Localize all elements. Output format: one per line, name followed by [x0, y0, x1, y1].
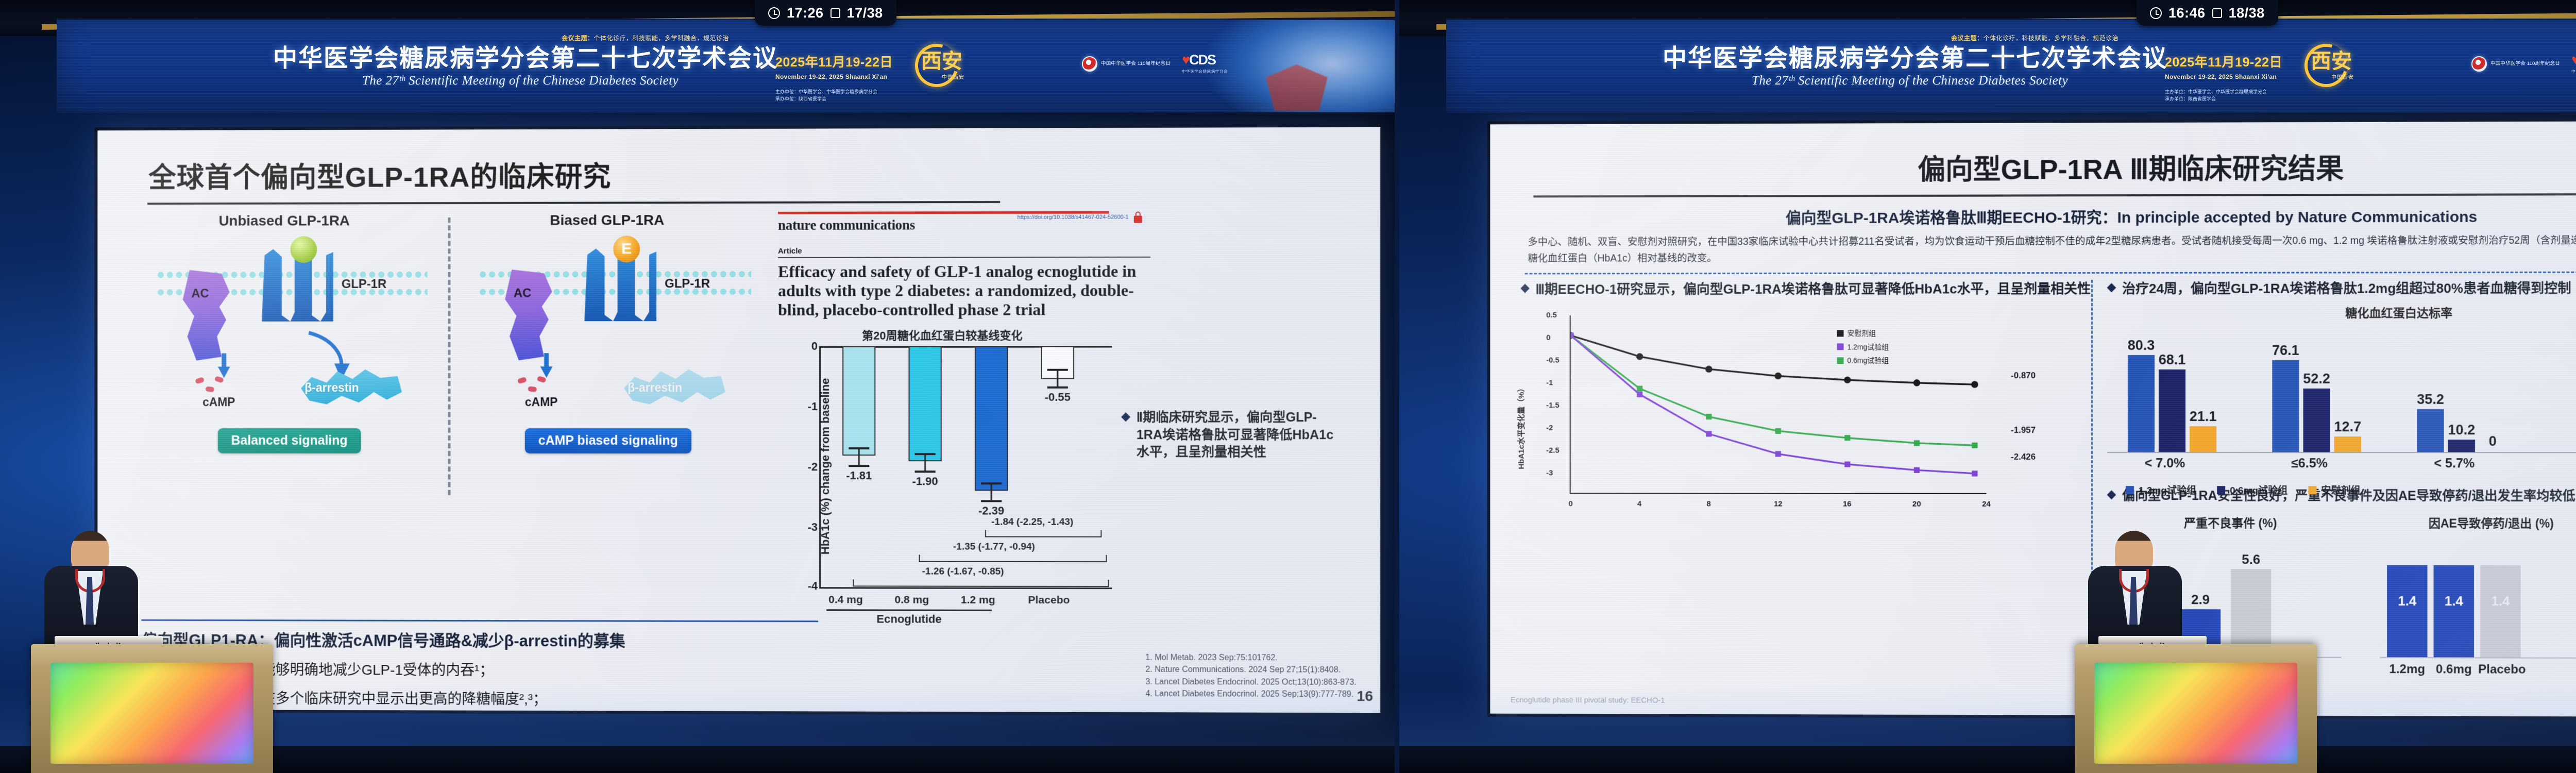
- bar-value-1-2mg: -2.39: [978, 505, 1004, 518]
- cds-logo-mark: ♥CDS: [2571, 53, 2576, 67]
- pagoda-graphic: [1266, 64, 1328, 111]
- gb-legend-label-1-2mg: 1.2mg试验组: [2139, 483, 2196, 497]
- chart-xaxis: 0.4 mg 0.8 mg 1.2 mg Placebo Ecnoglutide: [819, 592, 1113, 634]
- leadin-text: 偏向型GLP1-RA：偏向性激活cAMP信号通路&减少β-arrestin的募集: [141, 627, 1359, 653]
- beta-arrestin-icon-biased: β-arrestin: [617, 366, 725, 414]
- signal-pill-camp-biased: cAMP biased signaling: [525, 428, 691, 453]
- banner-host-line2: 承办单位：陕西省医学会: [2165, 96, 2319, 103]
- ac-label-biased: AC: [514, 286, 532, 300]
- gbar-label-g2-1-2mg: 76.1: [2272, 343, 2299, 359]
- city-emblem: 西安 中国西安: [906, 40, 967, 91]
- gb-legend-1-2mg: 1.2mg试验组: [2126, 483, 2196, 497]
- ytick-1: -1: [794, 400, 818, 413]
- gbar-g3-1-2mg: 35.2: [2417, 409, 2444, 452]
- biased-panel-title: Biased GLP-1RA: [463, 212, 751, 229]
- gbar-g2-0-6mg: 52.2: [2303, 389, 2330, 452]
- endlabel-0-6mg: -1.957: [2011, 425, 2036, 435]
- chart-baseline: [821, 587, 1112, 590]
- chart-side-bullet: ◆ Ⅱ期临床研究显示，偏向型GLP-1RA埃诺格鲁肽可显著降低HbA1c水平，且…: [1122, 326, 1340, 616]
- gbar-label-g2-placebo: 12.7: [2334, 419, 2361, 435]
- lc-ytick-2: -0.5: [1546, 356, 1560, 365]
- bullet-right-1-text: 治疗24周，偏向型GLP-1RA埃诺格鲁肽1.2mg组超过80%患者血糖得到控制…: [2122, 279, 2576, 298]
- camp-molecule-icon: [188, 376, 249, 395]
- side-bullet-row: ◆ Ⅱ期临床研究显示，偏向型GLP-1RA埃诺格鲁肽可显著降低HbA1c水平，且…: [1122, 409, 1340, 461]
- right-camera-pane: 会议主题：个体化诊疗，科技赋能，多学科融合，规范诊治 中华医学会糖尿病学分会第二…: [1395, 0, 2576, 773]
- comparison-label-3: -1.26 (-1.67, -0.85): [922, 566, 1004, 578]
- gb-xtick-1: < 7.0%: [2145, 456, 2185, 471]
- line-chart-ylabel: HbA1c水平变化量（%）: [1516, 384, 1527, 469]
- bullet-left-text: Ⅲ期EECHO-1研究显示，偏向型GLP-1RA埃诺格鲁肽可显著降低HbA1c水…: [1535, 280, 2091, 299]
- cmda-seal-icon: [2471, 56, 2487, 72]
- banner-theme: 会议主题：个体化诊疗，科技赋能，多学科融合，规范诊治: [1951, 33, 2119, 42]
- endlabel-1-2mg: -2.426: [2011, 452, 2036, 462]
- slide-page-number-left: 16: [1357, 688, 1374, 704]
- slide-body-left: Unbiased GLP-1RA GLP-1R AC cAMP: [118, 211, 1360, 617]
- banner-title-en: The 27ᵗʰ Scientific Meeting of the Chine…: [1663, 74, 2157, 88]
- gb-legend-placebo: 安慰剂组: [2308, 483, 2360, 497]
- gbar-g1-0-6mg: 68.1: [2159, 369, 2185, 452]
- lc-xtick-16: 16: [1843, 500, 1852, 509]
- cds-logo: ♥CDS 中华医学会糖尿病学分会: [2571, 53, 2576, 74]
- lc-ytick-4: -1.5: [1546, 401, 1560, 410]
- legend-label-0-6mg: 0.6mg试验组: [1848, 354, 1889, 367]
- reference-3: 3. Lancet Diabetes Endocrinol. 2025 Oct;…: [1145, 676, 1356, 688]
- lc-ytick-1: 0: [1546, 333, 1550, 342]
- comparison-label-2: -1.35 (-1.77, -0.94): [953, 542, 1035, 553]
- legend-item-1-2mg: 1.2mg试验组: [1837, 340, 1889, 354]
- cds-logo-sub: 中华医学会糖尿病学分会: [1182, 69, 1228, 74]
- gbar-label-g3-placebo: 0: [2489, 433, 2497, 449]
- side-bullet-text: Ⅱ期临床研究显示，偏向型GLP-1RA埃诺格鲁肽可显著降低HbA1c水平，且呈剂…: [1137, 409, 1340, 461]
- gbar-label-g3-1-2mg: 35.2: [2417, 392, 2444, 408]
- speaker-right: [2085, 519, 2188, 653]
- chart-ylabel: HbA1c (%) change from baseline: [819, 378, 832, 555]
- chart-hba1c-target-rate: 糖化血红蛋白达标率 80.3 68.1 21.1 76.1 52.2 12.7: [2107, 303, 2576, 484]
- legend-label-1-2mg: 1.2mg试验组: [1848, 340, 1889, 354]
- chart-hba1c-timecourse: HbA1c水平变化量（%） 0.5 0 -0.5 -1 -1.5 -2 -2.5…: [1521, 305, 2063, 526]
- hud-time-right: 16:46: [2168, 5, 2206, 21]
- errorbar-0-8mg: [915, 453, 936, 473]
- aed-label-0-6mg: 1.4: [2445, 593, 2463, 609]
- bar-value-0-8mg: -1.90: [912, 475, 938, 488]
- bar-0-4mg: -1.81: [842, 346, 875, 456]
- speaker-left: [41, 519, 144, 653]
- gbar-g3-0-6mg: 10.2: [2448, 440, 2475, 452]
- legend-swatch-placebo: [1837, 330, 1844, 337]
- city-emblem: 西安 中国西安: [2295, 40, 2356, 91]
- unbiased-panel-title: Unbiased GLP-1RA: [141, 212, 427, 229]
- paper-doi: https://doi.org/10.1038/s41467-024-52600…: [1018, 214, 1129, 221]
- banner-title-cn: 中华医学会糖尿病学分会第二十七次学术会议: [273, 46, 768, 71]
- gbar-g1-placebo: 21.1: [2190, 426, 2216, 452]
- bar-placebo: -0.55: [1041, 346, 1074, 379]
- legend-label-placebo: 安慰剂组: [1848, 326, 1876, 340]
- cds-logo: ♥CDS 中华医学会糖尿病学分会: [1182, 53, 1228, 74]
- reference-1: 1. Mol Metab. 2023 Sep:75:101762.: [1145, 652, 1356, 664]
- lc-ytick-3: -1: [1546, 378, 1553, 387]
- gb-swatch-0-6mg: [2217, 486, 2225, 494]
- bullet-right-1: ◆ 治疗24周，偏向型GLP-1RA埃诺格鲁肽1.2mg组超过80%患者血糖得到…: [2107, 279, 2576, 298]
- banner-theme-label: 会议主题：: [562, 35, 594, 42]
- reference-2: 2. Nature Communications. 2024 Sep 27;15…: [1145, 664, 1356, 676]
- legend-swatch-0-6mg: [1837, 357, 1844, 364]
- lc-xtick-20: 20: [1912, 500, 1921, 509]
- chart-plot-area: HbA1c (%) change from baseline 0 -1 -2 -…: [819, 346, 1109, 590]
- slide-icon: [2212, 8, 2222, 18]
- endlabel-placebo: -0.870: [2011, 371, 2036, 381]
- comparison-bracket-3: [853, 580, 1109, 587]
- bar-value-0-4mg: -1.81: [846, 469, 872, 482]
- gb-legend-0-6mg: 0.6mg试验组: [2217, 483, 2287, 497]
- slide-title-right: 偏向型GLP-1RA Ⅲ期临床研究结果: [1507, 145, 2576, 189]
- xtick-1-2mg: 1.2 mg: [961, 594, 995, 607]
- slide-footnote: Ecnoglutide phase III pivotal study: EEC…: [1511, 696, 1665, 705]
- diamond-bullet-icon: ◆: [1122, 409, 1130, 461]
- banner-title-block: 中华医学会糖尿病学分会第二十七次学术会议 The 27ᵗʰ Scientific…: [1663, 46, 2157, 88]
- beta-arrestin-label-biased: β-arrestin: [628, 381, 682, 395]
- gb-swatch-placebo: [2308, 486, 2316, 494]
- banner-theme-text: 个体化诊疗，科技赋能，多学科融合，规范诊治: [1984, 35, 2119, 42]
- camp-label-unbiased: cAMP: [188, 395, 249, 409]
- paper-title: Efficacy and safety of GLP-1 analog ecno…: [778, 262, 1156, 320]
- hud-time-left: 17:26: [787, 5, 824, 21]
- banner-logos: 中国中华医学会 110周年纪念日 ♥CDS 中华医学会糖尿病学分会: [2471, 53, 2576, 74]
- hud-slide-counter-right: 18/38: [2229, 5, 2265, 21]
- camp-label-biased: cAMP: [511, 395, 572, 409]
- banner-theme: 会议主题：个体化诊疗，科技赋能，多学科融合，规范诊治: [562, 33, 729, 42]
- errorbar-0-4mg: [849, 447, 869, 467]
- podium-led-panel: [2094, 663, 2297, 764]
- column-left: ◆ Ⅲ期EECHO-1研究显示，偏向型GLP-1RA埃诺格鲁肽可显著降低HbA1…: [1507, 280, 2091, 657]
- chart-ae-discontinuation: 因AE导致停药/退出 (%) 1.4 1.4 1.4 1.2mg 0.6mg P…: [2380, 513, 2576, 659]
- hud-overlay-right: 16:46 18/38: [2137, 0, 2278, 26]
- gbar-g2-placebo: 12.7: [2334, 436, 2361, 452]
- lc-xtick-24: 24: [1982, 500, 1991, 509]
- gbar-label-g1-0-6mg: 68.1: [2159, 352, 2186, 368]
- conference-banner-right: 会议主题：个体化诊疗，科技赋能，多学科融合，规范诊治 中华医学会糖尿病学分会第二…: [1446, 19, 2576, 112]
- aed-bar-1-2mg: 1.4: [2387, 565, 2427, 657]
- gbar-g1-1-2mg: 80.3: [2128, 355, 2155, 452]
- bar-value-placebo: -0.55: [1045, 391, 1071, 404]
- bar-1-2mg: -2.39: [975, 346, 1008, 491]
- banner-title-en: The 27ᵗʰ Scientific Meeting of the Chine…: [273, 74, 768, 88]
- podium-right: 朱大龙: [2075, 603, 2317, 773]
- ytick-0: 0: [794, 340, 818, 353]
- lc-ytick-6: -2.5: [1546, 446, 1560, 455]
- stage-frame-bottom: [1395, 746, 2576, 773]
- chart-and-bullet-row: 第20周糖化血红蛋白较基线变化 HbA1c (%) change from ba…: [772, 326, 1352, 616]
- ytick-2: -2: [794, 460, 818, 474]
- line-chart-plot: 0.5 0 -0.5 -1 -1.5 -2 -2.5 -3: [1570, 315, 1987, 494]
- aed-title: 因AE导致停药/退出 (%): [2380, 513, 2576, 531]
- slide-columns: ◆ Ⅲ期EECHO-1研究显示，偏向型GLP-1RA埃诺格鲁肽可显著降低HbA1…: [1507, 279, 2576, 659]
- lc-xtick-0: 0: [1569, 499, 1573, 508]
- heart-icon: ♥: [2571, 52, 2576, 68]
- cds-logo-sub: 中华医学会糖尿病学分会: [2571, 69, 2576, 74]
- ligand-badge-icon: E: [613, 236, 640, 262]
- gb-title: 糖化血红蛋白达标率: [2107, 303, 2576, 321]
- legend-item-0-6mg: 0.6mg试验组: [1837, 354, 1889, 367]
- projection-screen-left: 全球首个偏向型GLP-1RA的临床研究 Unbiased GLP-1RA GLP…: [97, 127, 1380, 713]
- camp-group-biased: cAMP: [511, 376, 572, 409]
- aed-plot: 1.4 1.4 1.4 1.2mg 0.6mg Placebo: [2380, 539, 2576, 658]
- cmda-logo: 中国中华医学会 110周年纪念日: [2471, 56, 2560, 72]
- receptor-label-biased: GLP-1R: [665, 277, 710, 291]
- gb-xtick-2: ≤6.5%: [2291, 456, 2328, 471]
- gbar-label-g3-0-6mg: 10.2: [2448, 422, 2475, 438]
- conference-banner-left: 会议主题：个体化诊疗，科技赋能，多学科融合，规范诊治 中华医学会糖尿病学分会第二…: [57, 19, 1395, 112]
- aed-xtick-0-6mg: 0.6mg: [2436, 662, 2472, 677]
- xaxis-group-label: Ecnoglutide: [826, 613, 992, 627]
- left-camera-pane: 会议主题：个体化诊疗，科技赋能，多学科融合，规范诊治 中华医学会糖尿病学分会第二…: [0, 0, 1395, 773]
- banner-logos: 中国中华医学会 110周年纪念日 ♥CDS 中华医学会糖尿病学分会: [1082, 53, 1228, 74]
- cmda-logo: 中国中华医学会 110周年纪念日: [1082, 56, 1171, 72]
- aed-xtick-1-2mg: 1.2mg: [2389, 662, 2425, 677]
- reference-list: 1. Mol Metab. 2023 Sep:75:101762. 2. Nat…: [1145, 652, 1356, 700]
- banner-artwork: [1204, 19, 1395, 112]
- podium-left: 朱大龙: [31, 603, 273, 773]
- gb-legend-label-0-6mg: 0.6mg试验组: [2230, 483, 2287, 497]
- gb-legend-label-placebo: 安慰剂组: [2321, 483, 2360, 497]
- clock-icon: [2150, 7, 2162, 19]
- projection-screen-right: 偏向型GLP-1RA Ⅲ期临床研究结果 偏向型GLP-1RA埃诺格鲁肽Ⅲ期EEC…: [1490, 121, 2576, 717]
- gbar-g2-1-2mg: 76.1: [2272, 360, 2299, 452]
- lc-ytick-5: -2: [1546, 424, 1553, 432]
- xaxis-group-rule: [826, 610, 992, 612]
- city-tag: 中国西安: [942, 73, 964, 80]
- signal-pill-balanced: Balanced signaling: [218, 428, 361, 453]
- slide-16: 全球首个偏向型GLP-1RA的临床研究 Unbiased GLP-1RA GLP…: [97, 127, 1380, 713]
- diamond-bullet-icon: ◆: [1521, 281, 1530, 299]
- lc-ytick-0: 0.5: [1546, 311, 1557, 320]
- ac-label-unbiased: AC: [191, 287, 209, 301]
- banner-title-block: 中华医学会糖尿病学分会第二十七次学术会议 The 27ᵗʰ Scientific…: [273, 46, 768, 88]
- cmda-seal-icon: [1082, 56, 1097, 72]
- comparison-bracket-1: [985, 530, 1101, 537]
- dual-screen-stage: 会议主题：个体化诊疗，科技赋能，多学科融合，规范诊治 中华医学会糖尿病学分会第二…: [0, 0, 2576, 773]
- legend-item-placebo: 安慰剂组: [1837, 326, 1889, 340]
- ytick-3: -3: [794, 520, 818, 534]
- city-glyph: 西安: [921, 51, 962, 72]
- sae-label-placebo: 5.6: [2242, 551, 2260, 567]
- xtick-placebo: Placebo: [1028, 594, 1070, 607]
- content-dashed-rule: [1525, 272, 2576, 275]
- study-description-paragraph: 多中心、随机、双盲、安慰剂对照研究，在中国33家临床试验中心共计招募211名受试…: [1528, 232, 2576, 267]
- gbar-label-g2-0-6mg: 52.2: [2303, 371, 2330, 387]
- gb-legend: 1.2mg试验组 0.6mg试验组 安慰剂组: [2107, 483, 2576, 497]
- lc-xtick-8: 8: [1706, 499, 1710, 508]
- diagram-panel-unbiased: Unbiased GLP-1RA GLP-1R AC cAMP: [141, 212, 427, 229]
- chart-phase2-hba1c: 第20周糖化血红蛋白较基线变化 HbA1c (%) change from ba…: [772, 327, 1113, 616]
- camp-group-unbiased: cAMP: [188, 376, 249, 409]
- city-tag: 中国西安: [2331, 73, 2354, 80]
- reference-4: 4. Lancet Diabetes Endocrinol. 2025 Sep;…: [1145, 688, 1356, 700]
- gb-plot: 80.3 68.1 21.1 76.1 52.2 12.7 35.2 10.2: [2107, 329, 2576, 453]
- slide-icon: [831, 8, 840, 18]
- hud-overlay-left: 17:26 17/38: [755, 0, 896, 26]
- cds-logo-mark: ♥CDS: [1182, 53, 1228, 67]
- bullet-left: ◆ Ⅲ期EECHO-1研究显示，偏向型GLP-1RA埃诺格鲁肽可显著降低HbA1…: [1521, 280, 2091, 299]
- lc-xtick-12: 12: [1774, 500, 1783, 509]
- clock-icon: [768, 7, 780, 19]
- slide-title-left: 全球首个偏向型GLP-1RA的临床研究: [148, 152, 1360, 195]
- comparison-bracket-2: [919, 555, 1107, 562]
- banner-host-line2: 承办单位：陕西省医学会: [775, 96, 930, 103]
- slide-17: 偏向型GLP-1RA Ⅲ期临床研究结果 偏向型GLP-1RA埃诺格鲁肽Ⅲ期EEC…: [1490, 121, 2576, 717]
- chart-title-phase2: 第20周糖化血红蛋白较基线变化: [772, 327, 1113, 344]
- diagram-divider: [448, 217, 451, 495]
- line-chart-legend: 安慰剂组 1.2mg试验组 0.6mg试验组: [1837, 326, 1889, 367]
- cmda-logo-text: 中国中华医学会 110周年纪念日: [1101, 61, 1171, 67]
- comparison-label-1: -1.84 (-2.25, -1.43): [991, 517, 1073, 528]
- diagram-panel-biased: Biased GLP-1RA E GLP-1R AC cAMP β-ar: [463, 212, 751, 229]
- xtick-0-4mg: 0.4 mg: [828, 594, 863, 607]
- camp-molecule-icon: [511, 376, 572, 395]
- errorbar-1-2mg: [981, 483, 1002, 502]
- gb-swatch-1-2mg: [2126, 486, 2134, 494]
- receptor-label-unbiased: GLP-1R: [342, 277, 386, 292]
- glp1r-signaling-diagram: Unbiased GLP-1RA GLP-1R AC cAMP: [141, 212, 756, 500]
- slide-title-rule: [147, 201, 1000, 205]
- gbar-g3-placebo: 0: [2479, 451, 2506, 452]
- bar-0-8mg: -1.90: [909, 346, 942, 461]
- aed-label-placebo: 1.4: [2491, 593, 2510, 609]
- podium-body: [2075, 644, 2317, 773]
- aed-label-1-2mg: 1.4: [2398, 593, 2416, 609]
- aed-bar-placebo: 1.4: [2480, 565, 2521, 657]
- gbar-label-g1-1-2mg: 80.3: [2128, 338, 2155, 354]
- heart-icon: ♥: [1182, 52, 1189, 68]
- ligand-icon: [291, 236, 317, 263]
- podium-body: [31, 644, 273, 773]
- banner-title-cn: 中华医学会糖尿病学分会第二十七次学术会议: [1663, 46, 2157, 71]
- gbar-label-g1-placebo: 21.1: [2190, 409, 2217, 425]
- cmda-logo-text: 中国中华医学会 110周年纪念日: [2490, 61, 2560, 67]
- errorbar-placebo: [1047, 369, 1068, 389]
- article-rule: [778, 257, 1150, 258]
- lc-ytick-7: -3: [1546, 469, 1553, 478]
- city-glyph: 西安: [2311, 51, 2352, 72]
- hud-slide-counter-left: 17/38: [847, 5, 883, 21]
- diamond-bullet-icon: ◆: [2107, 280, 2116, 298]
- aed-xtick-placebo: Placebo: [2478, 662, 2526, 677]
- legend-swatch-1-2mg: [1837, 344, 1844, 350]
- banner-theme-label: 会议主题：: [1951, 35, 1984, 42]
- ytick-4: -4: [794, 579, 818, 593]
- banner-theme-text: 个体化诊疗，科技赋能，多学科融合，规范诊治: [594, 35, 730, 42]
- lc-xtick-4: 4: [1637, 499, 1641, 508]
- beta-arrestin-label-unbiased: β-arrestin: [304, 381, 359, 395]
- slide-title-rule: [1533, 193, 2576, 198]
- paper-and-chart-column: nature communications https://doi.org/10…: [772, 211, 1352, 617]
- aed-bar-0-6mg: 1.4: [2434, 565, 2474, 657]
- article-kicker: Article: [778, 246, 1352, 256]
- slide-subtitle: 偏向型GLP-1RA埃诺格鲁肽Ⅲ期EECHO-1研究：In principle …: [1507, 204, 2576, 229]
- nature-paper-clip: nature communications https://doi.org/10…: [772, 211, 1352, 320]
- xtick-0-8mg: 0.8 mg: [894, 594, 929, 607]
- podium-led-panel: [50, 663, 253, 764]
- gb-xtick-3: < 5.7%: [2434, 456, 2475, 471]
- cds-logo-letters: CDS: [1189, 52, 1215, 68]
- line-chart-svg: [1571, 315, 1987, 493]
- open-access-lock-icon: [1133, 212, 1143, 224]
